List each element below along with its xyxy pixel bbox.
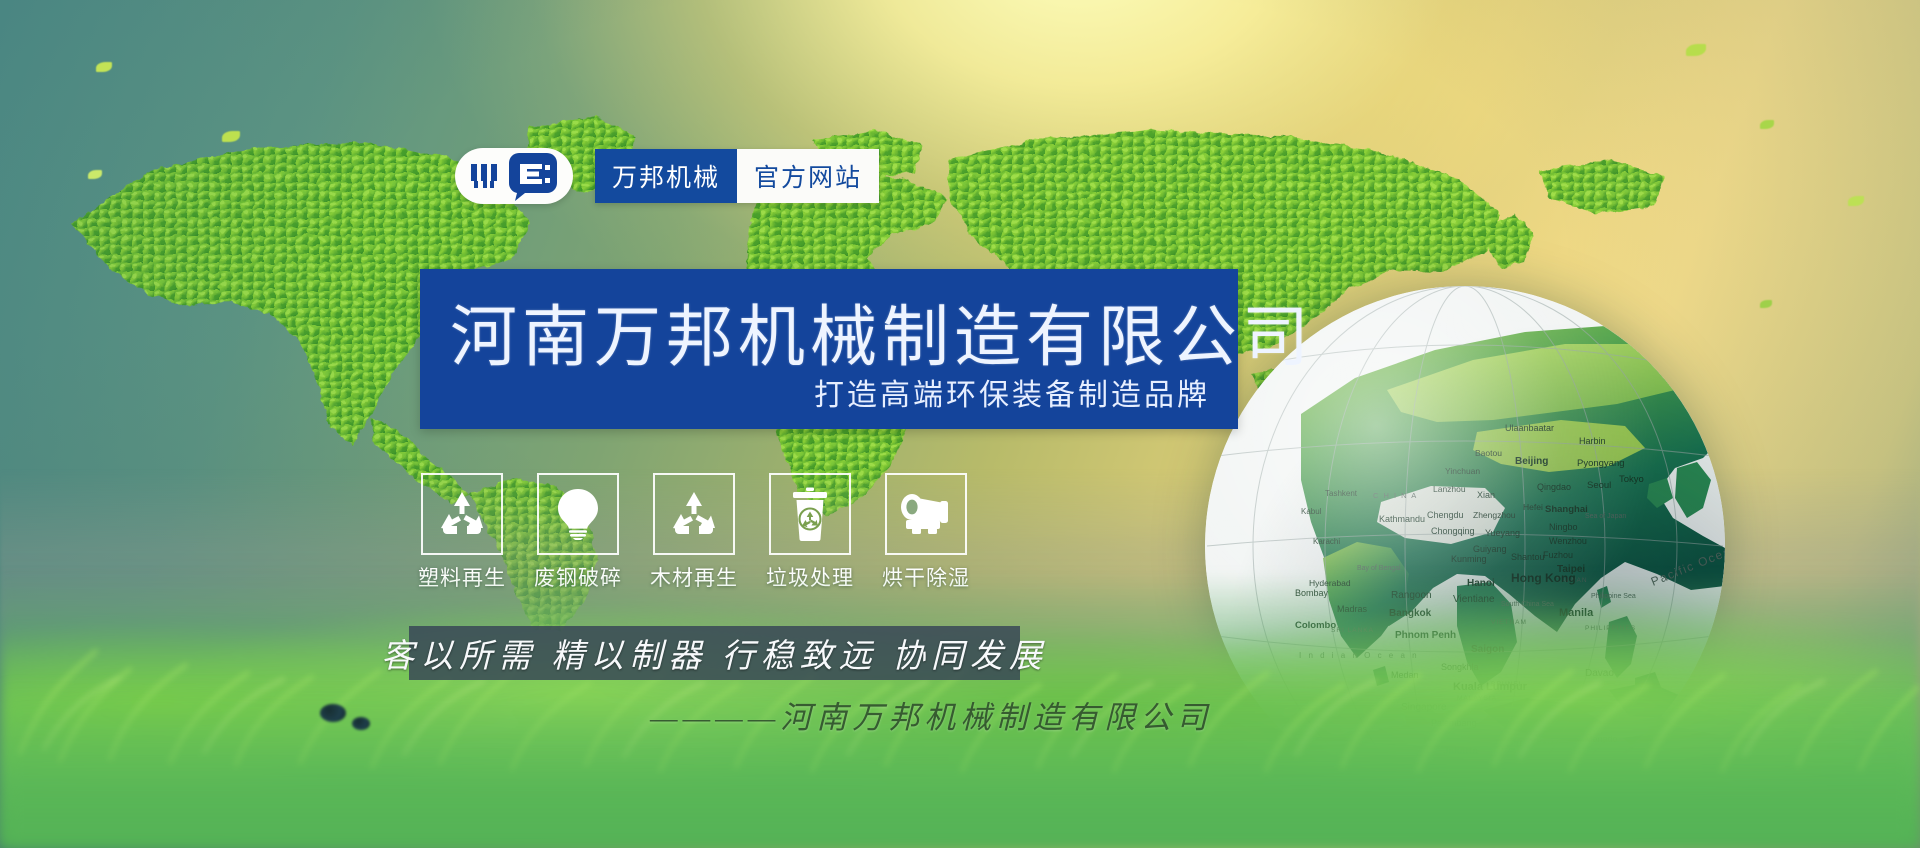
svg-text:Kabul: Kabul	[1301, 507, 1322, 516]
svg-text:Shantou: Shantou	[1511, 552, 1545, 562]
svg-text:Tashkent: Tashkent	[1325, 489, 1358, 498]
slogan-banner: 客以所需 精以制器 行稳致远 协同发展	[409, 626, 1020, 680]
svg-text:Zhengzhou: Zhengzhou	[1473, 510, 1516, 520]
svg-text:Baotou: Baotou	[1475, 448, 1502, 458]
svg-text:Seoul: Seoul	[1587, 480, 1611, 491]
hero-title-panel: 河南万邦机械制造有限公司 打造高端环保装备制造品牌	[420, 269, 1238, 429]
slogan-signature: ————河南万邦机械制造有限公司	[650, 692, 1212, 737]
header-tabs: 万邦机械 官方网站	[595, 149, 879, 203]
company-logo[interactable]	[455, 148, 573, 204]
svg-text:Yueyang: Yueyang	[1485, 528, 1520, 538]
svg-text:Hefei: Hefei	[1523, 502, 1543, 512]
recycle-icon	[437, 490, 487, 538]
company-tagline: 打造高端环保装备制造品牌	[814, 370, 1210, 414]
svg-text:C H I N A: C H I N A	[1373, 491, 1418, 500]
dryer-machine-icon	[898, 492, 954, 536]
service-icon-box	[769, 473, 851, 555]
svg-text:Pyongyang: Pyongyang	[1577, 458, 1625, 469]
site-header: 万邦机械 官方网站	[455, 148, 879, 204]
svg-text:Harbin: Harbin	[1579, 436, 1606, 446]
svg-text:Shanghai: Shanghai	[1545, 504, 1588, 515]
service-icon-box	[421, 473, 503, 555]
svg-text:Tokyo: Tokyo	[1619, 474, 1644, 485]
svg-text:Chongqing: Chongqing	[1431, 526, 1475, 536]
service-icon-box	[537, 473, 619, 555]
slogan-text: 客以所需 精以制器 行稳致远 协同发展	[381, 629, 1048, 677]
trash-bin-recycle-icon	[789, 487, 831, 541]
lightbulb-icon	[556, 488, 600, 540]
tab-official-site[interactable]: 官方网站	[737, 149, 879, 203]
tab-company[interactable]: 万邦机械	[595, 149, 737, 203]
svg-text:Sea of Japan: Sea of Japan	[1585, 513, 1626, 520]
dark-dew-speck	[352, 717, 370, 730]
svg-text:Kunming: Kunming	[1451, 554, 1487, 564]
svg-text:Wenzhou: Wenzhou	[1549, 536, 1587, 546]
svg-text:Chengdu: Chengdu	[1427, 510, 1464, 520]
svg-text:Beijing: Beijing	[1515, 456, 1548, 467]
dark-dew-speck	[320, 704, 346, 722]
svg-text:Ningbo: Ningbo	[1549, 522, 1578, 532]
w-monogram-icon	[469, 161, 501, 191]
svg-text:Guiyang: Guiyang	[1473, 544, 1507, 554]
svg-text:Lanzhou: Lanzhou	[1433, 484, 1466, 494]
svg-text:Karachi: Karachi	[1313, 537, 1340, 546]
svg-text:Bay of Bengal: Bay of Bengal	[1357, 565, 1401, 572]
b-monogram-icon	[507, 151, 559, 201]
recycle-icon	[669, 490, 719, 538]
svg-text:Yinchuan: Yinchuan	[1445, 466, 1480, 476]
service-icon-box	[885, 473, 967, 555]
svg-text:Xian: Xian	[1477, 490, 1495, 500]
svg-text:Kathmandu: Kathmandu	[1379, 514, 1425, 524]
svg-text:Fuzhou: Fuzhou	[1543, 550, 1573, 560]
service-icon-box	[653, 473, 735, 555]
svg-text:Ulaanbaatar: Ulaanbaatar	[1505, 423, 1554, 433]
hero-banner: Ulaanbaatar Beijing Baotou Yinchuan Lanz…	[0, 0, 1920, 848]
svg-text:Qingdao: Qingdao	[1537, 482, 1571, 492]
company-name: 河南万邦机械制造有限公司	[450, 283, 1314, 380]
